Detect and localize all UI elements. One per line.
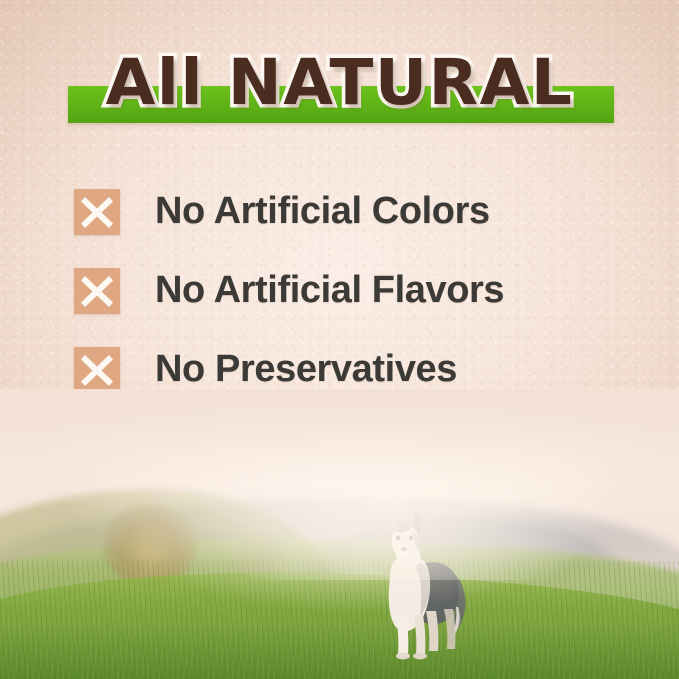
x-mark-icon [74, 268, 120, 314]
list-item: No Artificial Colors [0, 172, 679, 251]
page-title: All NATURAL [0, 50, 679, 116]
x-mark-icon [74, 347, 120, 393]
dog-photo-subject [352, 503, 476, 665]
lifestyle-photo [0, 389, 679, 679]
claim-label: No Artificial Flavors [155, 269, 504, 312]
ad-panel: All NATURAL No Artificial Colors No Arti… [0, 0, 679, 679]
claim-label: No Preservatives [155, 348, 457, 391]
x-mark-icon [74, 189, 120, 235]
list-item: No Artificial Flavors [0, 251, 679, 330]
grass-texture [0, 561, 679, 679]
claim-label: No Artificial Colors [155, 190, 490, 233]
